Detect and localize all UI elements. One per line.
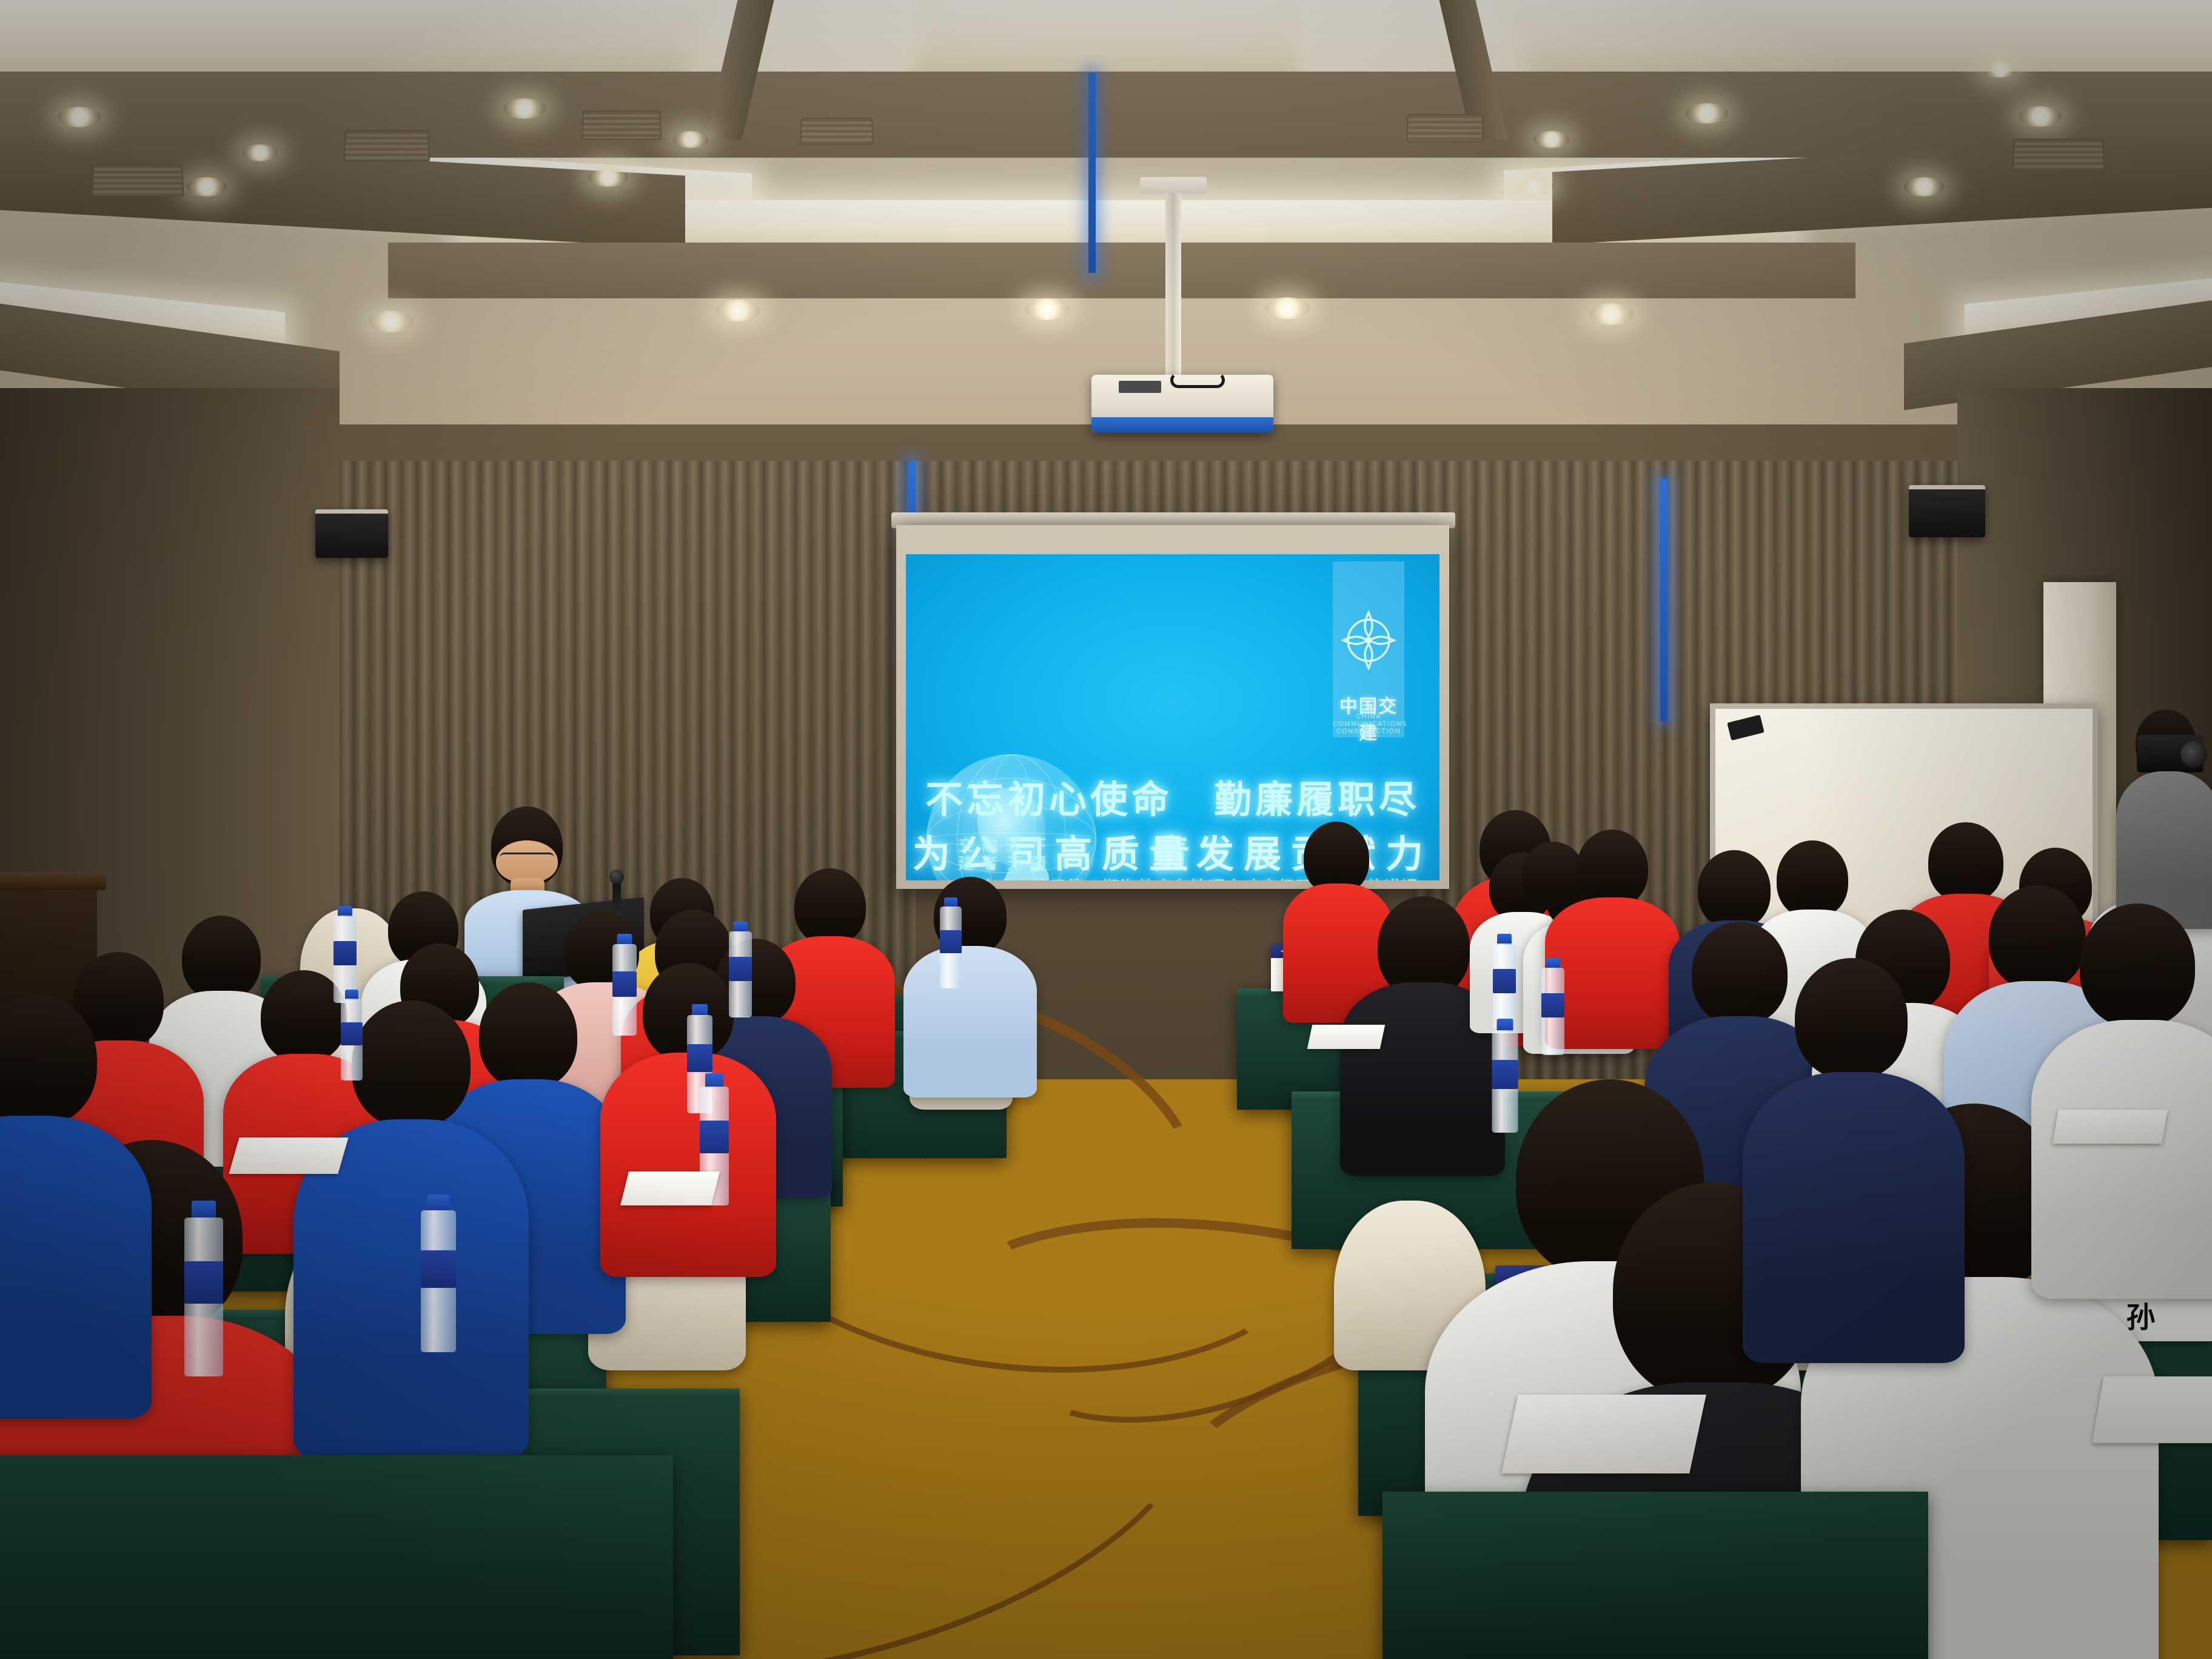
notebook[interactable] bbox=[2092, 1376, 2212, 1443]
recessed-downlight bbox=[588, 167, 628, 187]
ceiling-air-vent bbox=[344, 130, 430, 161]
ceiling-air-vent bbox=[1406, 114, 1484, 142]
glasses-icon bbox=[500, 853, 554, 862]
recessed-downlight bbox=[1534, 131, 1569, 148]
projector-vent bbox=[1119, 381, 1161, 393]
wall-speaker bbox=[1909, 485, 1985, 537]
head bbox=[1522, 842, 1585, 910]
table-row bbox=[0, 1455, 673, 1659]
head bbox=[352, 1000, 471, 1128]
table-row bbox=[1382, 1492, 1928, 1659]
recessed-downlight bbox=[243, 144, 278, 161]
notebook[interactable] bbox=[2053, 1110, 2168, 1144]
head bbox=[1795, 958, 1908, 1079]
slide-slogan-line-2: 建者无疆 bbox=[958, 854, 1055, 873]
accent-light-strip bbox=[1660, 479, 1667, 722]
head bbox=[2080, 903, 2195, 1027]
notebook[interactable] bbox=[229, 1138, 348, 1174]
cccc-logo-icon bbox=[1339, 609, 1398, 672]
wall-speaker bbox=[315, 509, 388, 558]
recessed-downlight bbox=[2019, 106, 2062, 127]
recessed-downlight bbox=[1025, 298, 1070, 320]
notebook[interactable] bbox=[1501, 1395, 1706, 1473]
torso bbox=[2031, 1020, 2212, 1299]
head bbox=[1777, 840, 1848, 918]
recessed-downlight bbox=[1589, 303, 1634, 325]
cove-light-band bbox=[0, 0, 2212, 73]
water-bottle[interactable] bbox=[182, 1201, 226, 1376]
torso bbox=[1743, 1072, 1965, 1363]
accent-light-strip bbox=[1088, 73, 1096, 273]
projector-ceiling-mount bbox=[1140, 177, 1207, 194]
recessed-downlight bbox=[58, 107, 101, 127]
recessed-downlight bbox=[503, 98, 546, 119]
recessed-downlight bbox=[716, 300, 760, 321]
recessed-downlight bbox=[1983, 61, 2018, 78]
water-bottle[interactable] bbox=[611, 934, 638, 1036]
ceiling-beam bbox=[0, 72, 2212, 158]
head bbox=[1577, 829, 1648, 907]
torso bbox=[903, 946, 1037, 1098]
notebook[interactable] bbox=[1307, 1025, 1386, 1049]
whiteboard-eraser[interactable] bbox=[1727, 715, 1765, 741]
recessed-downlight bbox=[1904, 177, 1944, 196]
water-bottle[interactable] bbox=[418, 1195, 458, 1352]
camera-lens-icon bbox=[2180, 741, 2207, 768]
cccc-logo-en: CHINA COMMUNICATIONS CONSTRUCTION bbox=[1333, 713, 1404, 735]
head bbox=[1692, 922, 1788, 1025]
ceiling-beam bbox=[388, 243, 1855, 298]
water-bottle[interactable] bbox=[1540, 958, 1566, 1055]
torso bbox=[0, 1116, 152, 1419]
head bbox=[1928, 822, 2003, 902]
recessed-downlight bbox=[1265, 297, 1310, 319]
conference-room-photo: 中国交建 CHINA COMMUNICATIONS CONSTRUCTION 不… bbox=[0, 0, 2212, 1659]
recessed-downlight bbox=[1686, 103, 1728, 124]
projector-cable bbox=[1170, 372, 1225, 388]
recessed-downlight bbox=[369, 310, 414, 332]
lectern-top bbox=[0, 872, 106, 890]
ceiling-air-vent bbox=[2013, 139, 2105, 172]
head bbox=[479, 982, 577, 1089]
recessed-downlight bbox=[673, 131, 708, 148]
presentation-slide: 中国交建 CHINA COMMUNICATIONS CONSTRUCTION 不… bbox=[906, 554, 1439, 880]
water-bottle[interactable] bbox=[1492, 934, 1517, 1030]
head bbox=[794, 868, 866, 945]
water-bottle[interactable] bbox=[728, 922, 753, 1017]
recessed-downlight bbox=[1513, 176, 1553, 195]
slide-slogan: 交融天下 建者无疆 bbox=[958, 836, 1055, 873]
water-bottle[interactable] bbox=[1490, 1019, 1520, 1133]
cccc-logo-box: 中国交建 CHINA COMMUNICATIONS CONSTRUCTION bbox=[1333, 561, 1404, 737]
head bbox=[1698, 850, 1771, 929]
ceiling-air-vent bbox=[92, 164, 184, 197]
water-bottle[interactable] bbox=[340, 990, 364, 1081]
recessed-downlight bbox=[187, 177, 227, 196]
slide-slogan-line-1: 交融天下 bbox=[958, 836, 1055, 855]
water-bottle[interactable] bbox=[332, 906, 358, 1003]
projector-mount-pole bbox=[1165, 193, 1181, 381]
notebook[interactable] bbox=[620, 1171, 720, 1205]
head bbox=[1989, 885, 2086, 990]
water-bottle[interactable] bbox=[939, 897, 963, 988]
ceiling-air-vent bbox=[800, 118, 874, 145]
ceiling-air-vent bbox=[581, 110, 662, 139]
head bbox=[182, 916, 261, 1000]
